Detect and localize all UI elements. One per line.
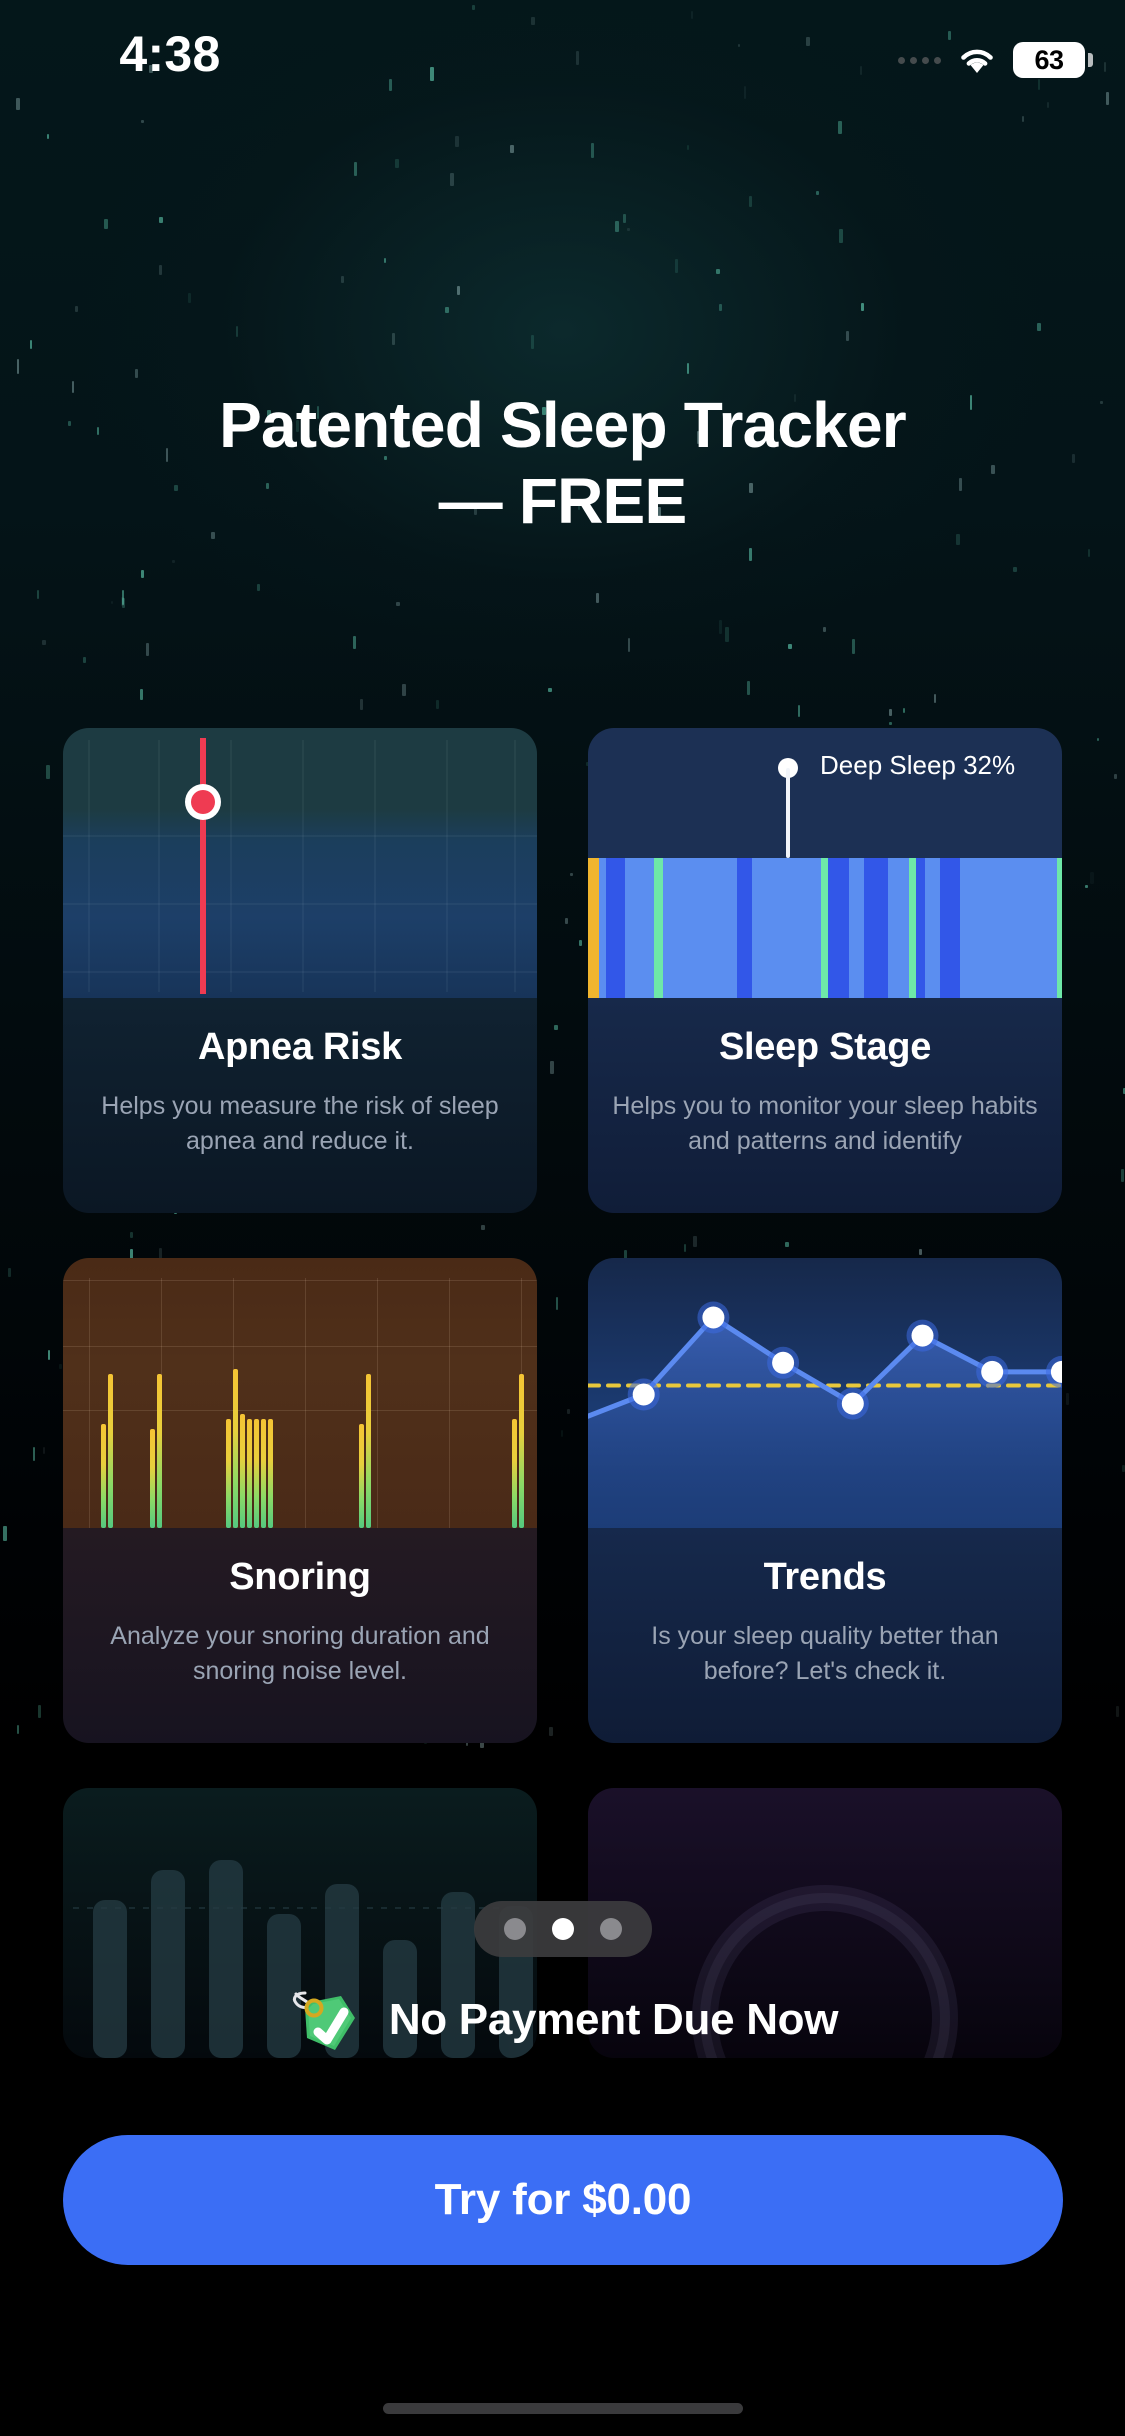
- status-bar-indicators: 63: [898, 42, 1085, 78]
- hypnogram-band: [737, 858, 752, 998]
- card-description: Helps you measure the risk of sleep apne…: [63, 1089, 537, 1158]
- snoring-bar: [247, 1419, 252, 1528]
- snoring-bar: [157, 1374, 162, 1528]
- hypnogram-band: [916, 858, 925, 998]
- hypnogram-band: [909, 858, 916, 998]
- snoring-bar: [366, 1374, 371, 1528]
- snoring-bar: [359, 1424, 364, 1528]
- feature-card-trends-body: Trends Is your sleep quality better than…: [588, 1528, 1062, 1743]
- snoring-bar: [268, 1419, 273, 1528]
- page-dot-active[interactable]: [552, 1918, 574, 1940]
- status-bar: 4:38 63: [0, 0, 1125, 110]
- page-title-line-1: Patented Sleep Tracker: [50, 388, 1075, 464]
- hypnogram-band: [849, 858, 864, 998]
- hypnogram-band: [663, 858, 736, 998]
- battery-indicator: 63: [1013, 42, 1085, 78]
- snoring-bar: [240, 1414, 245, 1528]
- hypnogram-band: [625, 858, 653, 998]
- snoring-bar: [101, 1424, 106, 1528]
- wifi-icon: [955, 44, 999, 76]
- card-title: Apnea Risk: [63, 1026, 537, 1069]
- card-title: Sleep Stage: [588, 1026, 1062, 1069]
- hypnogram-band: [960, 858, 1057, 998]
- app-screen: 4:38 63 Patented Sleep Tracker — FREE: [0, 0, 1125, 2436]
- snoring-bar: [519, 1374, 524, 1528]
- no-payment-row: No Payment Due Now: [0, 1980, 1125, 2060]
- snoring-bar: [233, 1369, 238, 1528]
- feature-card-apnea-risk-body: Apnea Risk Helps you measure the risk of…: [63, 998, 537, 1213]
- home-indicator[interactable]: [383, 2403, 743, 2414]
- snoring-bars: [63, 1258, 537, 1528]
- hypnogram-band: [888, 858, 909, 998]
- deep-sleep-badge: Deep Sleep 32%: [820, 750, 1015, 781]
- snoring-bar: [226, 1419, 231, 1528]
- hypnogram-band: [864, 858, 888, 998]
- card-title: Trends: [588, 1556, 1062, 1599]
- battery-percent-label: 63: [1034, 45, 1063, 76]
- feature-card-sleep-stage-body: Sleep Stage Helps you to monitor your sl…: [588, 998, 1062, 1213]
- sleep-stage-hypnogram: Deep Sleep 32%: [588, 728, 1062, 998]
- hypnogram-band: [752, 858, 821, 998]
- card-description: Analyze your snoring duration and snorin…: [63, 1619, 537, 1688]
- hypnogram-band: [821, 858, 829, 998]
- hypnogram-bands: [588, 858, 1062, 998]
- card-description: Helps you to monitor your sleep habits a…: [588, 1089, 1062, 1158]
- price-tag-check-icon: [287, 1980, 367, 2060]
- feature-card-sleep-stage[interactable]: Deep Sleep 32% Sleep Stage Helps you to …: [588, 728, 1062, 1213]
- card-description: Is your sleep quality better than before…: [588, 1619, 1062, 1688]
- apnea-risk-chart: [63, 728, 537, 998]
- snoring-chart: [63, 1258, 537, 1528]
- trends-chart: [588, 1258, 1062, 1528]
- try-for-free-button[interactable]: Try for $0.00: [63, 2135, 1063, 2265]
- deep-sleep-marker-stem: [786, 768, 790, 858]
- signal-dots-icon: [898, 57, 941, 64]
- feature-card-grid: Apnea Risk Helps you measure the risk of…: [0, 728, 1125, 1978]
- page-title-line-2: — FREE: [50, 464, 1075, 540]
- snoring-bar: [261, 1419, 266, 1528]
- hypnogram-band: [606, 858, 626, 998]
- page-indicator[interactable]: [474, 1901, 652, 1957]
- status-bar-time: 4:38: [60, 25, 280, 83]
- feature-card-trends[interactable]: Trends Is your sleep quality better than…: [588, 1258, 1062, 1743]
- hypnogram-band: [588, 858, 599, 998]
- snoring-bar: [254, 1419, 259, 1528]
- hypnogram-band: [1057, 858, 1062, 998]
- cta-label: Try for $0.00: [435, 2175, 692, 2225]
- no-payment-label: No Payment Due Now: [389, 1995, 838, 2045]
- page-dot[interactable]: [600, 1918, 622, 1940]
- snoring-bar: [512, 1419, 517, 1528]
- hypnogram-band: [828, 858, 848, 998]
- hypnogram-band: [940, 858, 960, 998]
- page-title: Patented Sleep Tracker — FREE: [50, 388, 1075, 539]
- page-dot[interactable]: [504, 1918, 526, 1940]
- feature-card-apnea-risk[interactable]: Apnea Risk Helps you measure the risk of…: [63, 728, 537, 1213]
- snoring-bar: [150, 1429, 155, 1528]
- card-title: Snoring: [63, 1556, 537, 1599]
- hypnogram-band: [925, 858, 940, 998]
- snoring-bar: [108, 1374, 113, 1528]
- hypnogram-band: [654, 858, 663, 998]
- feature-card-snoring[interactable]: Snoring Analyze your snoring duration an…: [63, 1258, 537, 1743]
- feature-card-snoring-body: Snoring Analyze your snoring duration an…: [63, 1528, 537, 1743]
